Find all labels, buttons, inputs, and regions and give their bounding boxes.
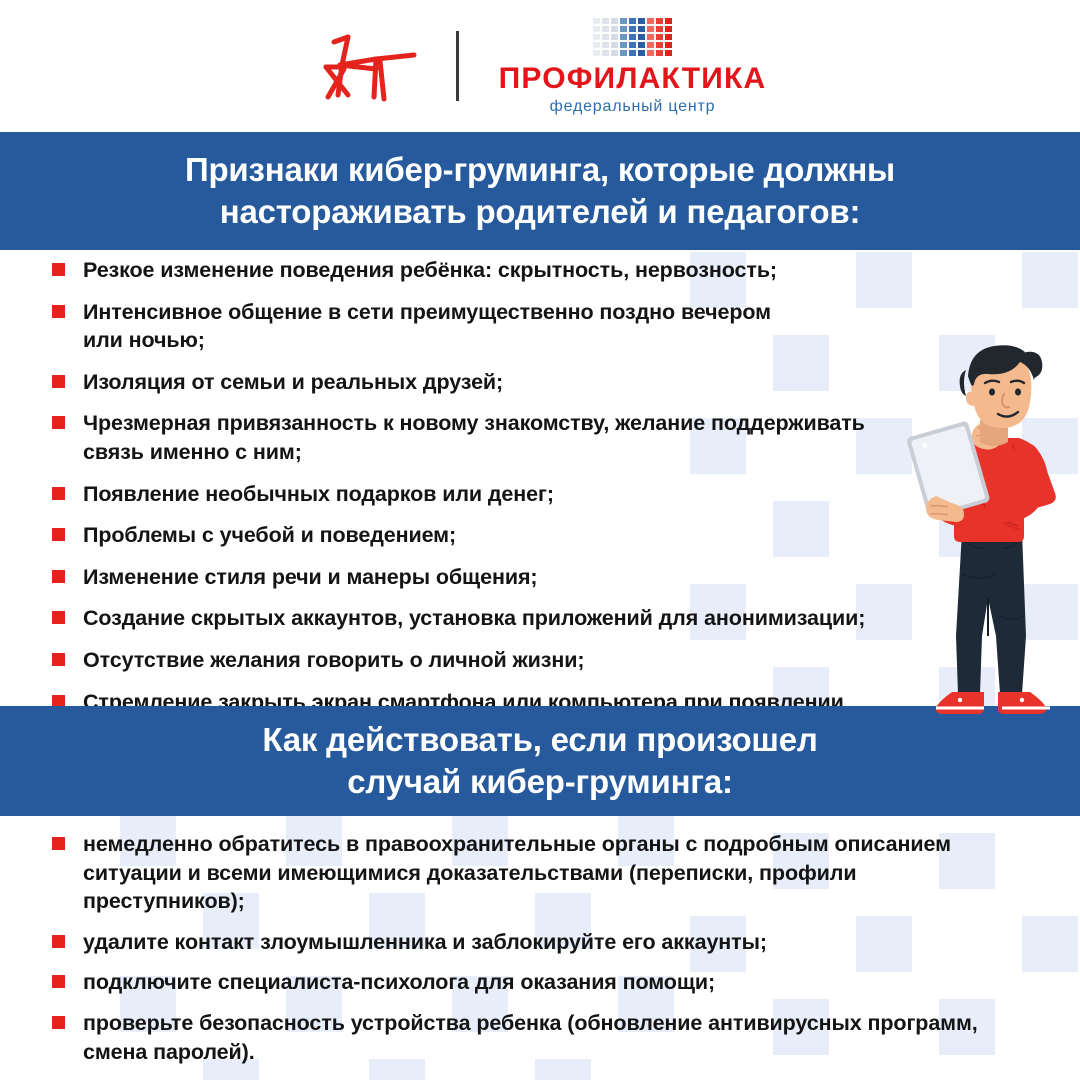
flag-square-cell: [638, 18, 645, 24]
action-step-item: проверьте безопасность устройства ребенк…: [52, 1009, 1002, 1066]
flag-square-cell: [638, 34, 645, 40]
flag-square-cell: [611, 42, 618, 48]
poster-root: ПРОФИЛАКТИКА федеральный центр Признаки …: [0, 0, 1080, 1080]
warning-sign-item-text: Чрезмерная привязанность к новому знаком…: [83, 409, 865, 466]
flag-square-cell: [647, 42, 654, 48]
warning-sign-item-text: Интенсивное общение в сети преимуществен…: [83, 298, 771, 355]
flag-square-cell: [665, 34, 672, 40]
brand-title: ПРОФИЛАКТИКА: [499, 64, 767, 94]
warning-sign-item: Создание скрытых аккаунтов, установка пр…: [52, 604, 1002, 633]
bullet-square-icon: [52, 263, 65, 276]
red-dog-line-mark-icon: [314, 25, 424, 107]
action-step-item-text: удалите контакт злоумышленника и заблоки…: [83, 928, 767, 957]
flag-square-cell: [629, 18, 636, 24]
flag-square-cell: [665, 18, 672, 24]
flag-square-cell: [602, 50, 609, 56]
bullet-square-icon: [52, 611, 65, 624]
boy-with-tablet-thinking-illustration: [900, 336, 1080, 721]
action-step-item: немедленно обратитесь в правоохранительн…: [52, 830, 1002, 916]
flag-squares-grid-icon: [593, 18, 672, 56]
warning-signs-list: Резкое изменение поведения ребёнка: скры…: [52, 256, 1002, 758]
flag-square-cell: [665, 42, 672, 48]
flag-square-cell: [629, 26, 636, 32]
flag-square-cell: [620, 34, 627, 40]
flag-square-cell: [620, 18, 627, 24]
flag-square-cell: [602, 26, 609, 32]
brand-subtitle: федеральный центр: [550, 99, 716, 115]
flag-square-cell: [593, 18, 600, 24]
flag-square-cell: [611, 26, 618, 32]
grid-cell: [1022, 252, 1078, 308]
warning-sign-item-text: Изменение стиля речи и манеры общения;: [83, 563, 537, 592]
warning-sign-item-text: Резкое изменение поведения ребёнка: скры…: [83, 256, 777, 285]
warning-sign-item: Резкое изменение поведения ребёнка: скры…: [52, 256, 1002, 285]
warning-sign-item: Проблемы с учебой и поведением;: [52, 521, 1002, 550]
section-heading-banner-2: Как действовать, если произошел случай к…: [0, 706, 1080, 816]
warning-sign-item: Появление необычных подарков или денег;: [52, 480, 1002, 509]
flag-square-cell: [593, 34, 600, 40]
flag-square-cell: [656, 18, 663, 24]
banner-2-line-2: случай кибер-груминга:: [347, 761, 733, 803]
warning-sign-item: Изоляция от семьи и реальных друзей;: [52, 368, 1002, 397]
action-step-item: подключите специалиста-психолога для ока…: [52, 968, 1002, 997]
flag-square-cell: [638, 50, 645, 56]
bullet-square-icon: [52, 653, 65, 666]
flag-square-cell: [593, 50, 600, 56]
flag-square-cell: [638, 26, 645, 32]
flag-square-cell: [647, 26, 654, 32]
warning-sign-item: Отсутствие желания говорить о личной жиз…: [52, 646, 1002, 675]
banner-2-line-1: Как действовать, если произошел: [262, 719, 817, 761]
warning-sign-item: Интенсивное общение в сети преимуществен…: [52, 298, 1002, 355]
flag-square-cell: [647, 18, 654, 24]
brand-block: ПРОФИЛАКТИКА федеральный центр: [499, 18, 767, 115]
flag-square-cell: [620, 42, 627, 48]
action-step-item-text: немедленно обратитесь в правоохранительн…: [83, 830, 1002, 916]
flag-square-cell: [638, 42, 645, 48]
bullet-square-icon: [52, 1016, 65, 1029]
action-step-item: удалите контакт злоумышленника и заблоки…: [52, 928, 1002, 957]
flag-square-cell: [602, 42, 609, 48]
action-step-item-text: проверьте безопасность устройства ребенк…: [83, 1009, 1002, 1066]
flag-square-cell: [611, 18, 618, 24]
bullet-square-icon: [52, 528, 65, 541]
flag-square-cell: [602, 34, 609, 40]
flag-square-cell: [593, 42, 600, 48]
flag-square-cell: [611, 50, 618, 56]
action-step-item-text: подключите специалиста-психолога для ока…: [83, 968, 715, 997]
flag-square-cell: [647, 34, 654, 40]
action-steps-list: немедленно обратитесь в правоохранительн…: [52, 830, 1002, 1078]
bullet-square-icon: [52, 487, 65, 500]
flag-square-cell: [647, 50, 654, 56]
warning-sign-item-text: Отсутствие желания говорить о личной жиз…: [83, 646, 584, 675]
flag-square-cell: [665, 50, 672, 56]
banner-1-line-2: настораживать родителей и педагогов:: [220, 191, 861, 233]
flag-square-cell: [656, 50, 663, 56]
bullet-square-icon: [52, 375, 65, 388]
header-logo-row: ПРОФИЛАКТИКА федеральный центр: [0, 0, 1080, 132]
flag-square-cell: [602, 18, 609, 24]
logo-divider: [456, 31, 459, 101]
bullet-square-icon: [52, 305, 65, 318]
bullet-square-icon: [52, 837, 65, 850]
warning-sign-item-text: Появление необычных подарков или денег;: [83, 480, 554, 509]
flag-square-cell: [620, 50, 627, 56]
bullet-square-icon: [52, 570, 65, 583]
flag-square-cell: [656, 26, 663, 32]
flag-square-cell: [611, 34, 618, 40]
flag-square-cell: [620, 26, 627, 32]
flag-square-cell: [629, 42, 636, 48]
flag-square-cell: [656, 42, 663, 48]
warning-sign-item-text: Проблемы с учебой и поведением;: [83, 521, 456, 550]
logo-group: ПРОФИЛАКТИКА федеральный центр: [314, 18, 767, 115]
flag-square-cell: [593, 26, 600, 32]
bullet-square-icon: [52, 416, 65, 429]
bullet-square-icon: [52, 935, 65, 948]
warning-sign-item-text: Создание скрытых аккаунтов, установка пр…: [83, 604, 865, 633]
warning-sign-item: Чрезмерная привязанность к новому знаком…: [52, 409, 1002, 466]
warning-sign-item: Изменение стиля речи и манеры общения;: [52, 563, 1002, 592]
section-heading-banner-1: Признаки кибер-груминга, которые должны …: [0, 132, 1080, 250]
flag-square-cell: [629, 50, 636, 56]
flag-square-cell: [665, 26, 672, 32]
flag-square-cell: [629, 34, 636, 40]
warning-sign-item-text: Изоляция от семьи и реальных друзей;: [83, 368, 503, 397]
bullet-square-icon: [52, 975, 65, 988]
flag-square-cell: [656, 34, 663, 40]
grid-cell: [1022, 916, 1078, 972]
banner-1-line-1: Признаки кибер-груминга, которые должны: [185, 149, 895, 191]
